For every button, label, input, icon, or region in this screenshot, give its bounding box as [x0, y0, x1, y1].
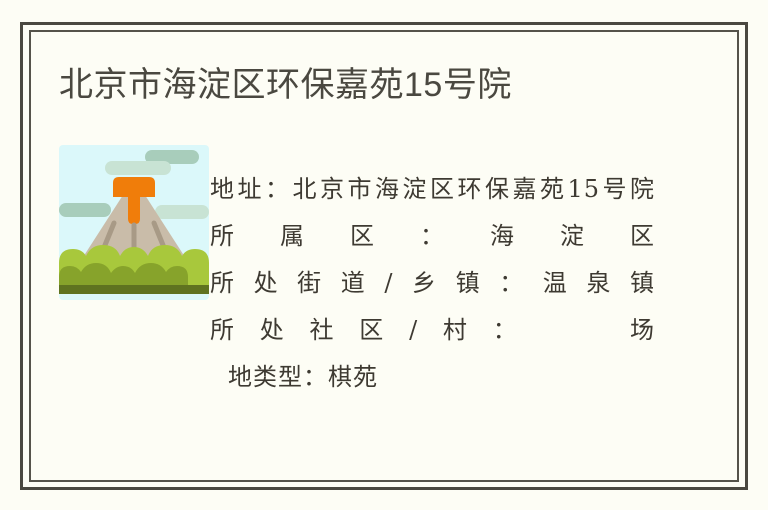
volcano-illustration — [59, 145, 209, 300]
detail-line-street: 所处街道/乡镇：温泉镇 — [210, 260, 655, 307]
page-title: 北京市海淀区环保嘉苑15号院 — [59, 62, 512, 108]
cloud-icon — [155, 205, 209, 219]
info-card: 北京市海淀区环保嘉苑15号院 地址：北京市海淀区环保嘉苑 — [0, 0, 768, 510]
volcano-icon — [59, 145, 209, 300]
cloud-icon — [59, 203, 111, 217]
detail-text-block: 地址：北京市海淀区环保嘉苑15号院 所属区：海淀区 所处街道/乡镇：温泉镇 所处… — [210, 166, 655, 401]
detail-line-address: 地址：北京市海淀区环保嘉苑15号院 所属区：海淀区 — [210, 166, 655, 260]
ground-strip — [59, 285, 209, 294]
cloud-icon — [105, 161, 171, 175]
detail-line-landtype: 地类型：棋苑 — [210, 354, 655, 401]
detail-line-community: 所处社区/村： 场 — [210, 307, 655, 354]
